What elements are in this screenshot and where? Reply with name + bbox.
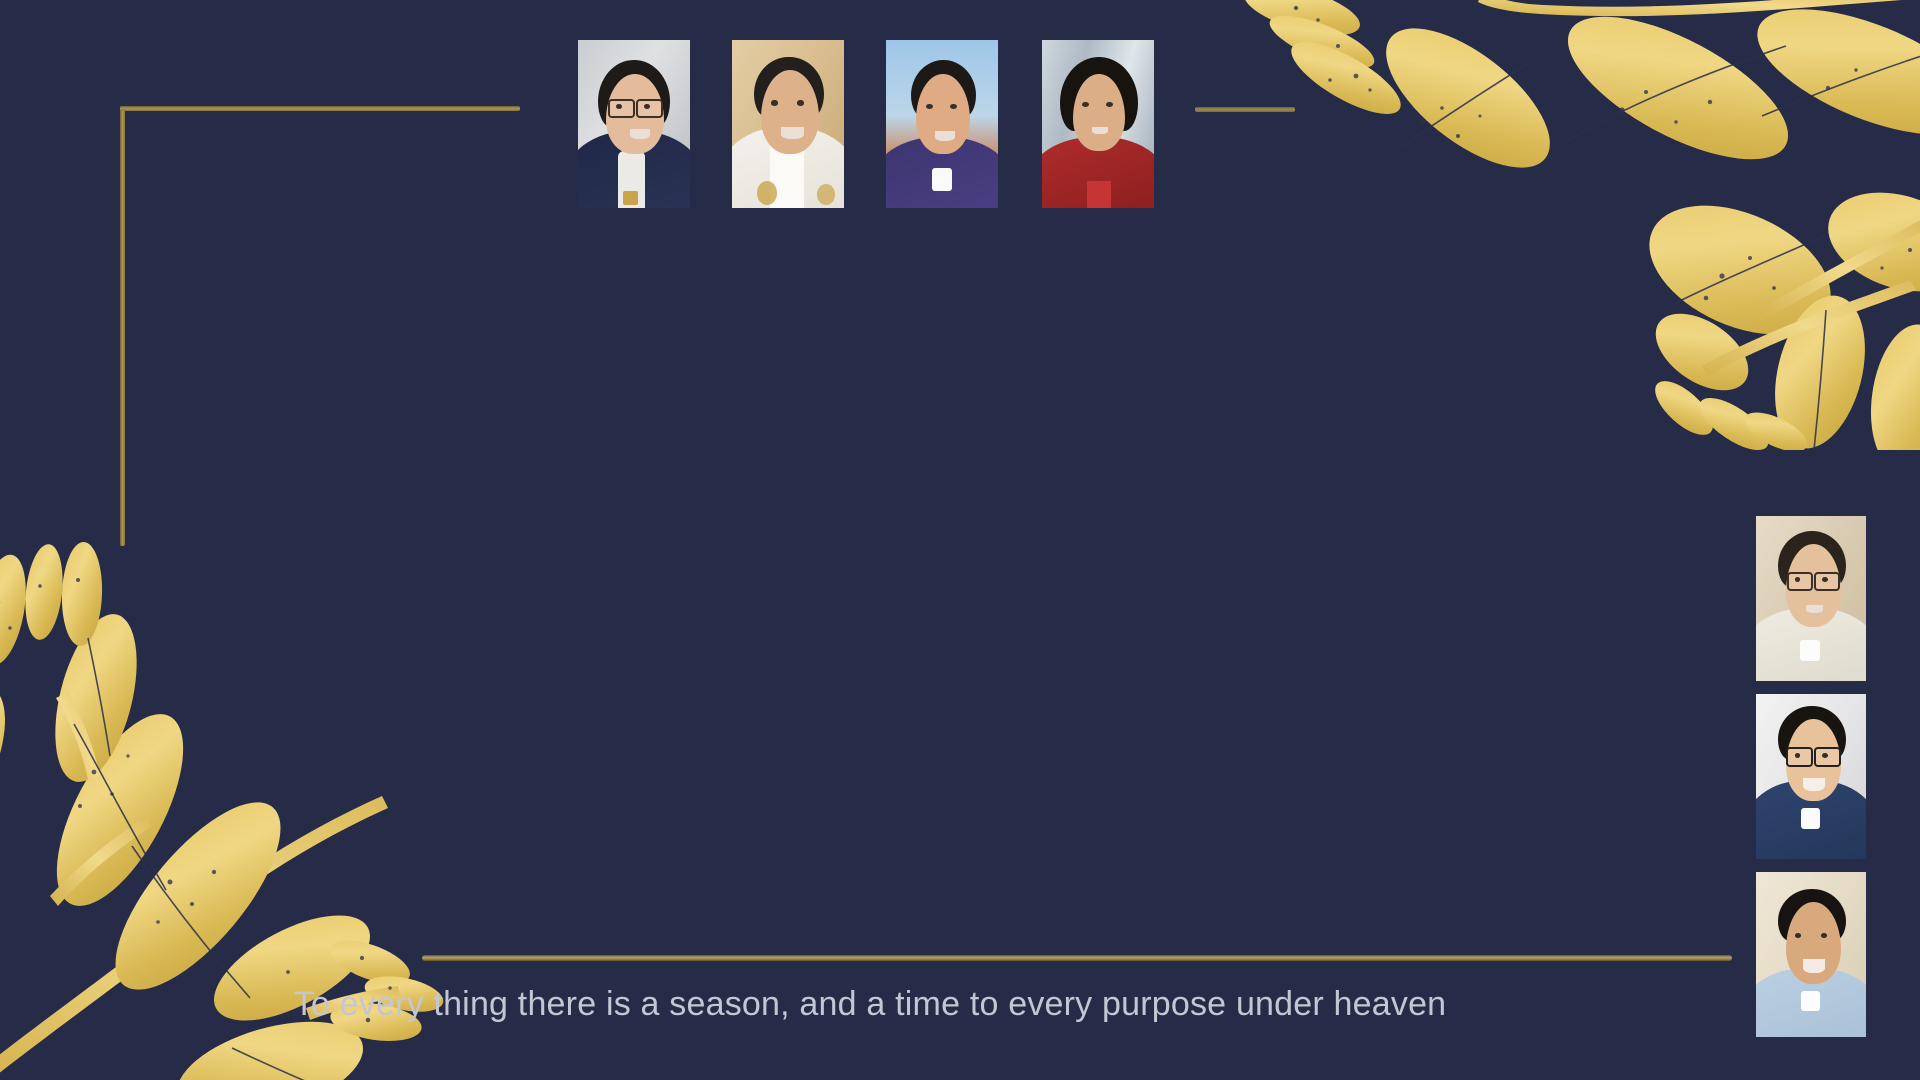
portrait-3[interactable]	[886, 40, 998, 208]
portrait-7[interactable]	[1756, 872, 1866, 1037]
gold-corner-frame-vertical	[120, 106, 125, 546]
portrait-1[interactable]	[578, 40, 690, 208]
gold-line-segment	[1195, 107, 1295, 112]
scripture-verse-text: To every thing there is a season, and a …	[0, 985, 1740, 1024]
gold-horizontal-rule	[422, 955, 1732, 961]
gold-leaf-branch-icon	[1210, 0, 1920, 450]
presentation-slide: ECCLESIASTES 3:1 To every thing there is…	[0, 0, 1920, 1080]
portrait-2[interactable]	[732, 40, 844, 208]
portrait-5[interactable]	[1756, 516, 1866, 681]
portrait-4[interactable]	[1042, 40, 1154, 208]
portrait-6[interactable]	[1756, 694, 1866, 859]
gold-corner-frame-horizontal	[120, 106, 520, 111]
